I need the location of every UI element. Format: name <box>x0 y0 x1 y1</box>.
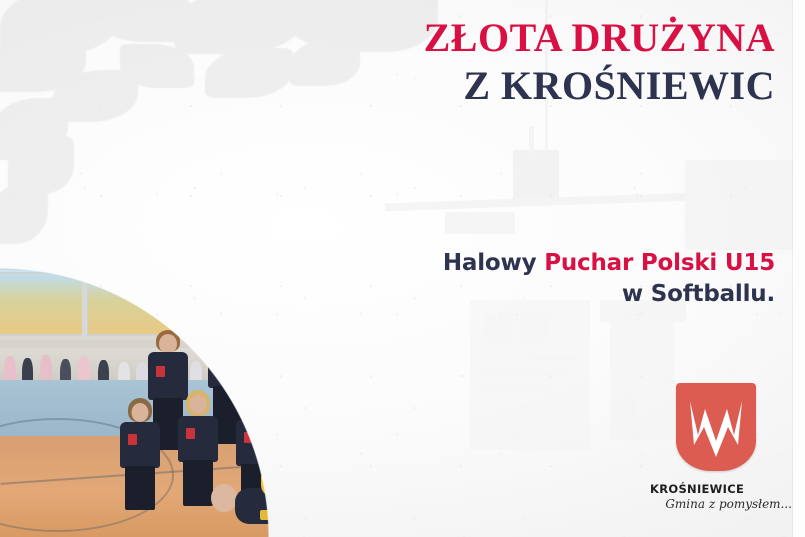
headline-line-1: ZŁOTA DRUŻYNA <box>305 14 775 62</box>
subtitle-part-puchar: Puchar Polski U15 <box>544 250 775 276</box>
team-member-lying <box>175 480 450 532</box>
team-member <box>118 398 162 510</box>
logo-tagline: Gmina z pomysłem... <box>646 497 796 511</box>
team-photo <box>0 268 540 537</box>
trophy <box>258 474 284 522</box>
poster-canvas: ZŁOTA DRUŻYNA Z KROŚNIEWIC Halowy Puchar… <box>0 0 805 537</box>
right-edge-strip <box>793 0 805 537</box>
poster-headline: ZŁOTA DRUŻYNA Z KROŚNIEWIC <box>305 14 775 110</box>
team-photo-image <box>0 268 540 537</box>
krosniewice-logo: KROŚNIEWICE Gmina z pomysłem... <box>646 383 796 523</box>
coat-of-arms-shield-icon <box>676 383 756 471</box>
headline-line-2: Z KROŚNIEWIC <box>305 62 775 110</box>
shield-emblem-icon <box>676 383 756 471</box>
logo-municipality-name: KROŚNIEWICE <box>646 482 796 496</box>
trophy <box>282 482 308 530</box>
